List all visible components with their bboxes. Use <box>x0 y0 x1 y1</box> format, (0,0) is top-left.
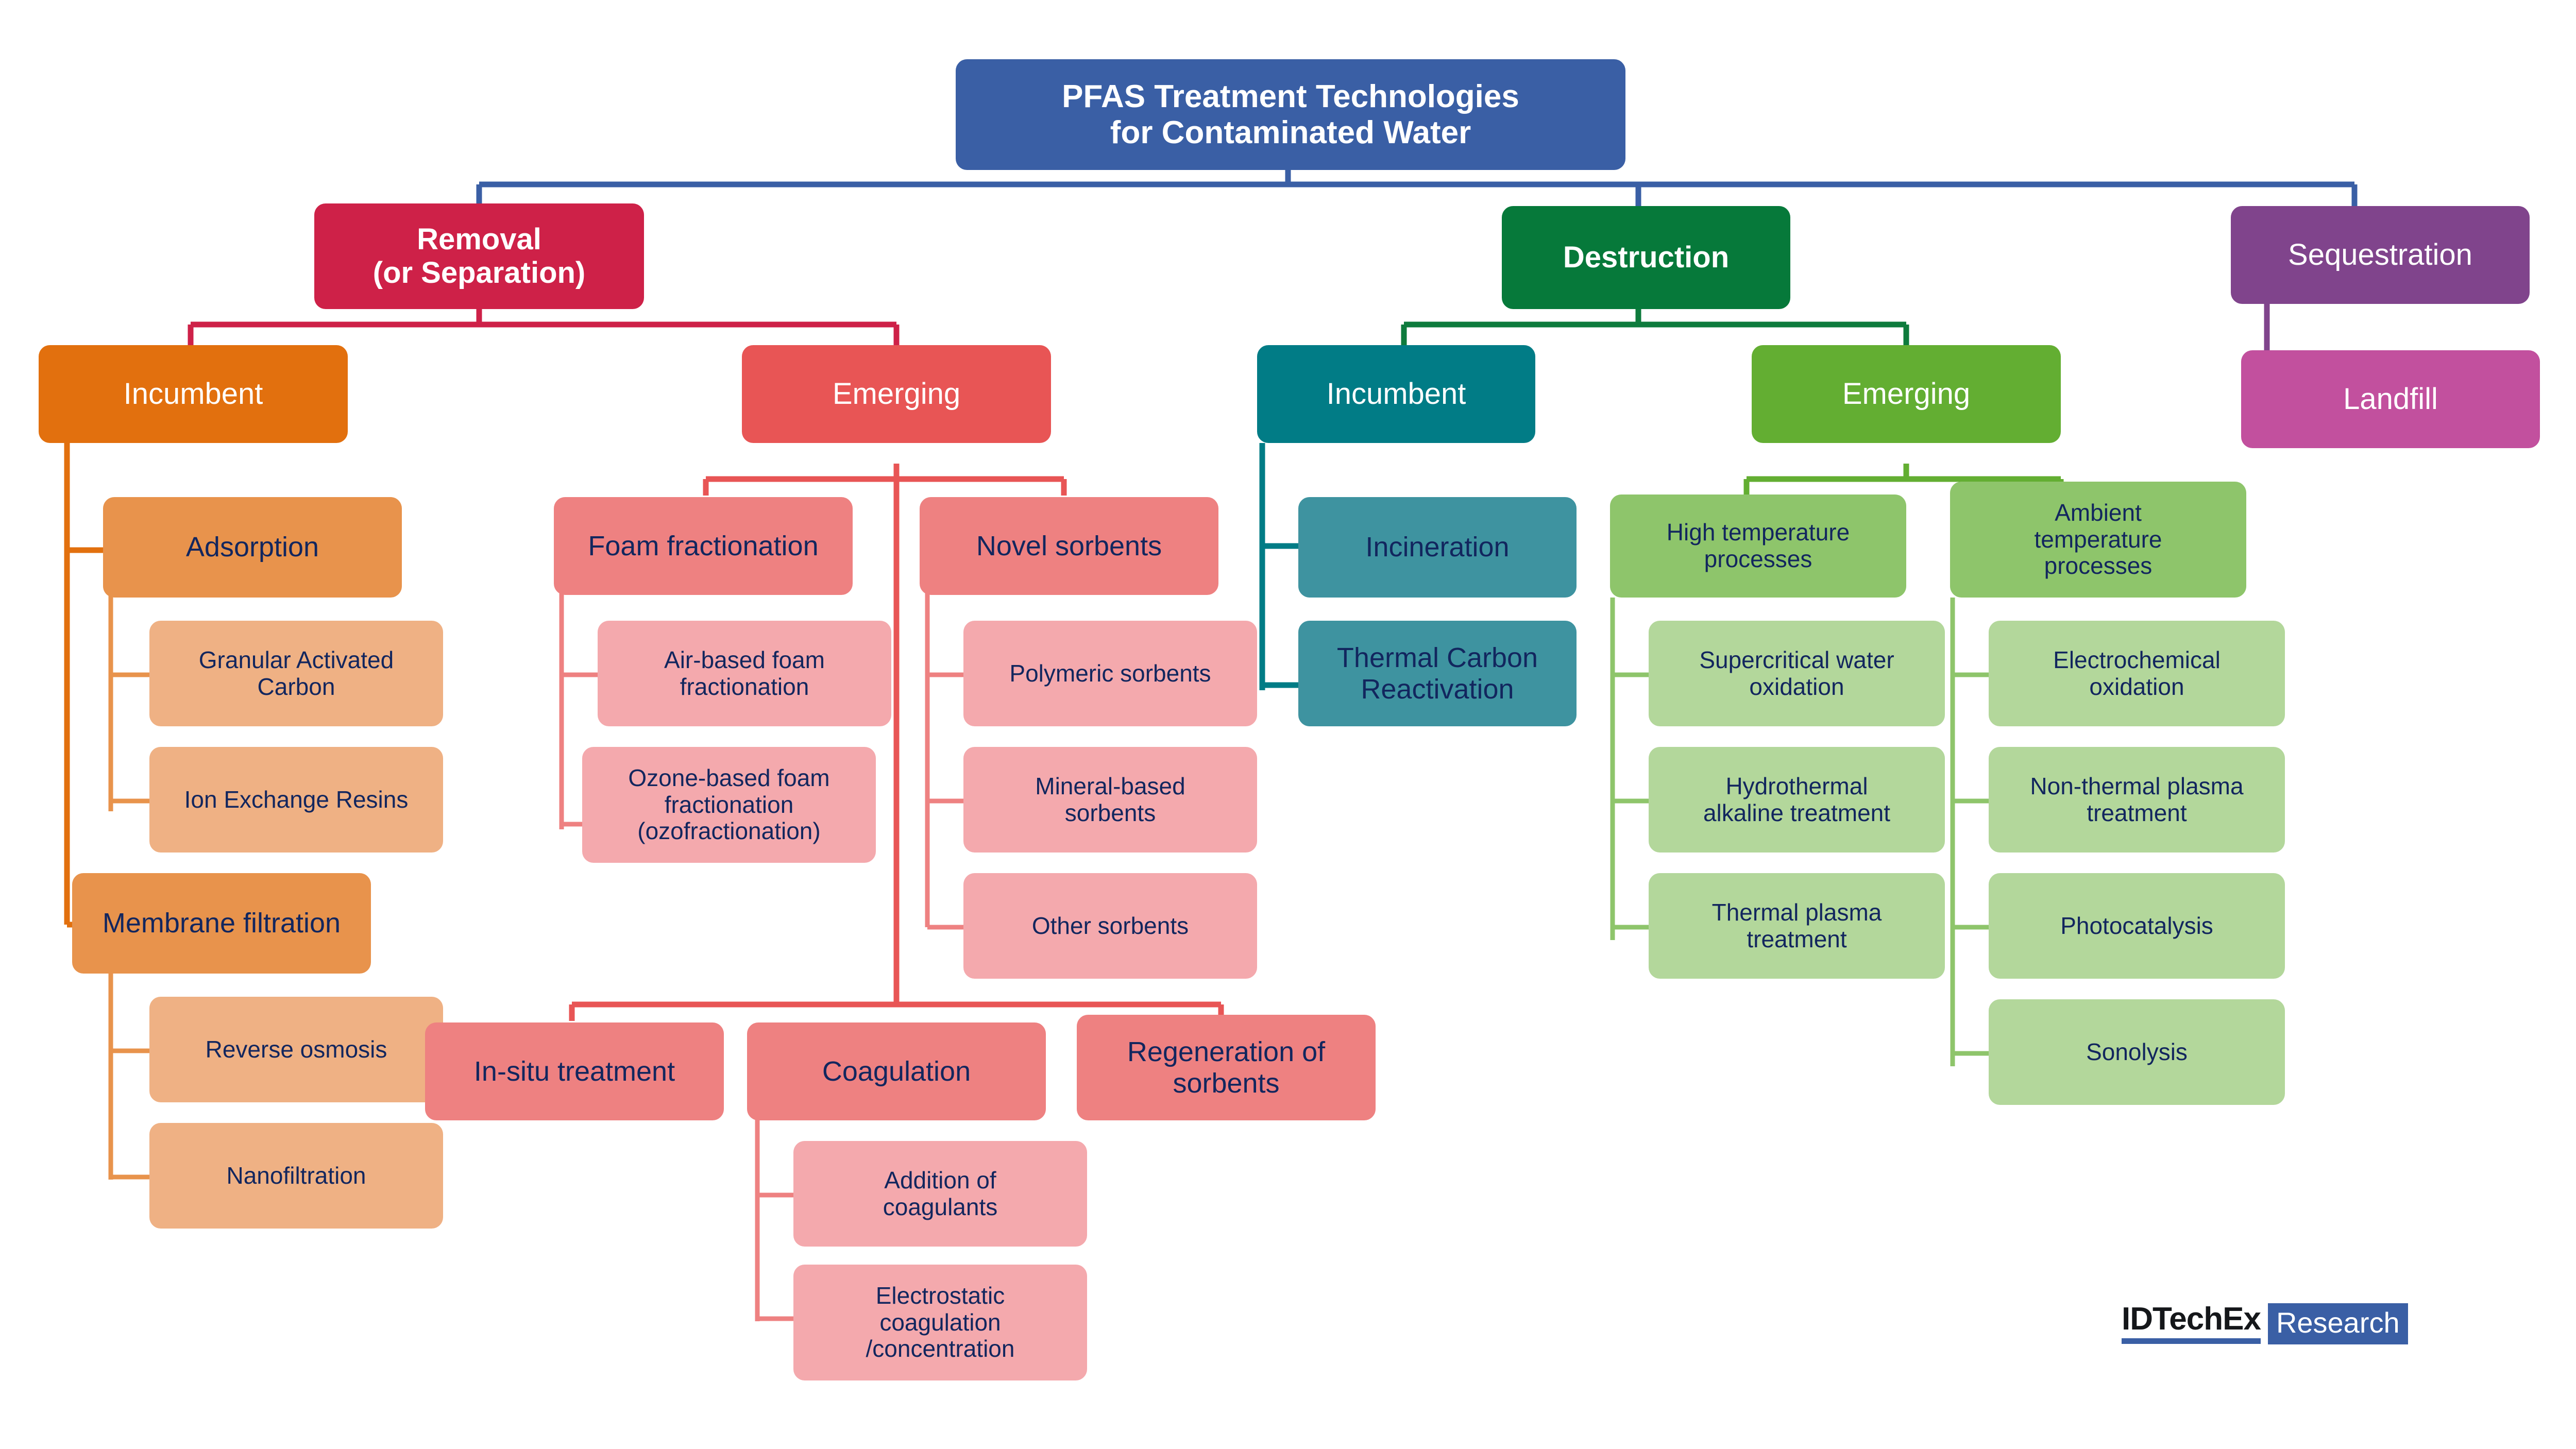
removal-electrostatic-coagulation-label: Electrostatic coagulation /concentration <box>866 1283 1015 1362</box>
destruction-incumbent-label: Incumbent <box>1327 378 1466 411</box>
destruction-photocatalysis[interactable]: Photocatalysis <box>1989 873 2285 979</box>
destruction-sonolysis[interactable]: Sonolysis <box>1989 999 2285 1105</box>
root-label: PFAS Treatment Technologies for Contamin… <box>1062 79 1519 150</box>
destruction-sonolysis-label: Sonolysis <box>2086 1039 2188 1066</box>
destruction-thermal-plasma-treatment-label: Thermal plasma treatment <box>1712 899 1882 952</box>
branch-removal[interactable]: Removal (or Separation) <box>314 203 644 309</box>
branch-sequestration-label: Sequestration <box>2288 238 2472 272</box>
branch-removal-label: Removal (or Separation) <box>373 223 586 290</box>
destruction-emerging-label: Emerging <box>1842 378 1970 411</box>
removal-foam-fractionation-label: Foam fractionation <box>588 531 818 561</box>
destruction-incumbent[interactable]: Incumbent <box>1257 345 1535 443</box>
branch-destruction-label: Destruction <box>1563 241 1729 275</box>
removal-electrostatic-coagulation[interactable]: Electrostatic coagulation /concentration <box>793 1265 1087 1380</box>
removal-novel-sorbents-label: Novel sorbents <box>976 531 1162 561</box>
root-node-pfas-treatment-technologies[interactable]: PFAS Treatment Technologies for Contamin… <box>956 59 1625 170</box>
removal-other-sorbents[interactable]: Other sorbents <box>963 873 1257 979</box>
removal-coagulation[interactable]: Coagulation <box>747 1022 1046 1120</box>
destruction-supercritical-water-oxidation[interactable]: Supercritical water oxidation <box>1649 621 1945 726</box>
removal-emerging[interactable]: Emerging <box>742 345 1051 443</box>
destruction-electrochemical-oxidation[interactable]: Electrochemical oxidation <box>1989 621 2285 726</box>
removal-other-sorbents-label: Other sorbents <box>1032 913 1189 940</box>
removal-nanofiltration-label: Nanofiltration <box>226 1163 366 1189</box>
removal-in-situ-treatment[interactable]: In-situ treatment <box>425 1022 724 1120</box>
destruction-emerging[interactable]: Emerging <box>1752 345 2061 443</box>
destruction-thermal-carbon-reactivation-label: Thermal Carbon Reactivation <box>1337 642 1538 705</box>
removal-membrane-filtration[interactable]: Membrane filtration <box>72 873 371 974</box>
removal-air-based-foam-fractionation-label: Air-based foam fractionation <box>664 647 825 700</box>
destruction-thermal-carbon-reactivation[interactable]: Thermal Carbon Reactivation <box>1298 621 1577 726</box>
destruction-supercritical-water-oxidation-label: Supercritical water oxidation <box>1699 647 1894 700</box>
removal-incumbent[interactable]: Incumbent <box>39 345 348 443</box>
removal-air-based-foam-fractionation[interactable]: Air-based foam fractionation <box>598 621 891 726</box>
removal-reverse-osmosis[interactable]: Reverse osmosis <box>149 997 443 1102</box>
destruction-electrochemical-oxidation-label: Electrochemical oxidation <box>2053 647 2221 700</box>
removal-polymeric-sorbents[interactable]: Polymeric sorbents <box>963 621 1257 726</box>
sequestration-landfill-label: Landfill <box>2343 383 2438 416</box>
destruction-non-thermal-plasma-treatment[interactable]: Non-thermal plasma treatment <box>1989 747 2285 853</box>
idtechex-research-logo: IDTechEx Research <box>2122 1303 2408 1344</box>
removal-in-situ-treatment-label: In-situ treatment <box>474 1056 675 1087</box>
removal-ion-exchange-resins[interactable]: Ion Exchange Resins <box>149 747 443 853</box>
destruction-ambient-temperature-processes-label: Ambient temperature processes <box>2034 500 2162 579</box>
removal-adsorption[interactable]: Adsorption <box>103 497 402 598</box>
destruction-thermal-plasma-treatment[interactable]: Thermal plasma treatment <box>1649 873 1945 979</box>
destruction-incineration[interactable]: Incineration <box>1298 497 1577 598</box>
removal-polymeric-sorbents-label: Polymeric sorbents <box>1009 660 1211 687</box>
removal-incumbent-label: Incumbent <box>124 378 263 411</box>
removal-addition-of-coagulants-label: Addition of coagulants <box>883 1167 998 1220</box>
destruction-photocatalysis-label: Photocatalysis <box>2060 913 2213 940</box>
removal-mineral-based-sorbents-label: Mineral-based sorbents <box>1035 773 1185 826</box>
removal-emerging-label: Emerging <box>833 378 960 411</box>
logo-research-badge: Research <box>2268 1303 2408 1344</box>
destruction-non-thermal-plasma-treatment-label: Non-thermal plasma treatment <box>2030 773 2243 826</box>
removal-granular-activated-carbon[interactable]: Granular Activated Carbon <box>149 621 443 726</box>
branch-sequestration[interactable]: Sequestration <box>2231 206 2530 304</box>
removal-nanofiltration[interactable]: Nanofiltration <box>149 1123 443 1229</box>
removal-membrane-filtration-label: Membrane filtration <box>103 908 341 939</box>
removal-mineral-based-sorbents[interactable]: Mineral-based sorbents <box>963 747 1257 853</box>
destruction-high-temperature-processes-label: High temperature processes <box>1667 519 1850 572</box>
destruction-hydrothermal-alkaline-treatment-label: Hydrothermal alkaline treatment <box>1703 773 1890 826</box>
destruction-high-temperature-processes[interactable]: High temperature processes <box>1610 495 1906 598</box>
removal-reverse-osmosis-label: Reverse osmosis <box>206 1036 387 1063</box>
removal-coagulation-label: Coagulation <box>822 1056 971 1087</box>
removal-regeneration-of-sorbents-label: Regeneration of sorbents <box>1127 1036 1325 1099</box>
logo-wordmark: IDTechEx <box>2122 1303 2261 1344</box>
removal-ion-exchange-resins-label: Ion Exchange Resins <box>184 787 409 813</box>
destruction-hydrothermal-alkaline-treatment[interactable]: Hydrothermal alkaline treatment <box>1649 747 1945 853</box>
destruction-ambient-temperature-processes[interactable]: Ambient temperature processes <box>1950 482 2246 598</box>
removal-regeneration-of-sorbents[interactable]: Regeneration of sorbents <box>1077 1015 1376 1120</box>
removal-ozone-based-foam-fractionation[interactable]: Ozone-based foam fractionation (ozofract… <box>582 747 876 863</box>
sequestration-landfill[interactable]: Landfill <box>2241 350 2540 448</box>
removal-novel-sorbents[interactable]: Novel sorbents <box>920 497 1218 595</box>
removal-adsorption-label: Adsorption <box>186 532 319 562</box>
removal-ozone-based-foam-fractionation-label: Ozone-based foam fractionation (ozofract… <box>628 765 829 845</box>
removal-foam-fractionation[interactable]: Foam fractionation <box>554 497 853 595</box>
diagram-canvas: PFAS Treatment Technologies for Contamin… <box>0 0 2576 1449</box>
destruction-incineration-label: Incineration <box>1365 532 1509 562</box>
branch-destruction[interactable]: Destruction <box>1502 206 1790 309</box>
removal-addition-of-coagulants[interactable]: Addition of coagulants <box>793 1141 1087 1247</box>
removal-granular-activated-carbon-label: Granular Activated Carbon <box>199 647 394 700</box>
